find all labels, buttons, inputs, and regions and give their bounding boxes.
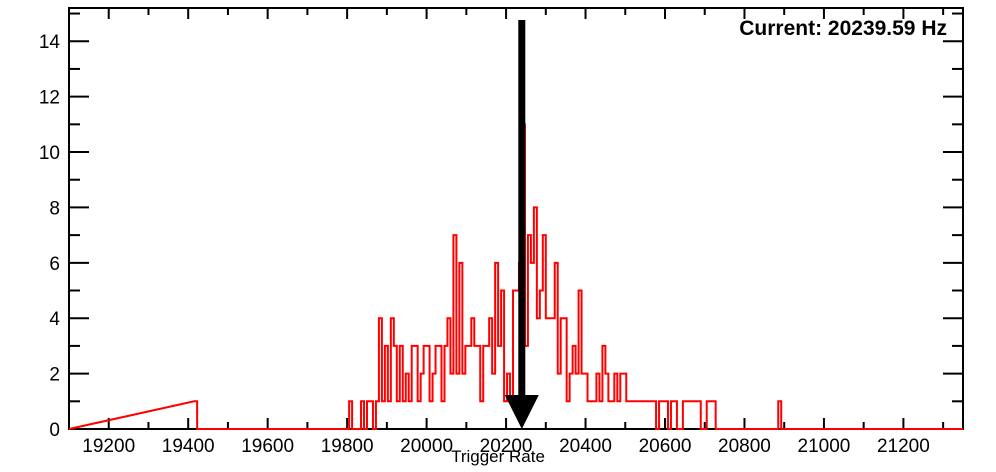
x-tick-label: 20600 <box>639 436 692 457</box>
y-tick-label: 6 <box>49 254 60 275</box>
y-axis-ticks <box>69 14 963 429</box>
x-tick-label: 21000 <box>798 436 851 457</box>
x-tick-label: 19800 <box>321 436 374 457</box>
current-rate-label: Current: 20239.59 Hz <box>739 17 947 40</box>
x-tick-label: 20400 <box>559 436 612 457</box>
frame-rect <box>69 8 963 429</box>
histogram-outline <box>69 124 963 429</box>
x-tick-label: 19200 <box>82 436 135 457</box>
x-axis-ticks <box>69 8 943 429</box>
x-axis-title: Trigger Rate <box>451 447 545 466</box>
x-tick-label: 19600 <box>241 436 294 457</box>
y-tick-label: 0 <box>49 420 60 441</box>
x-tick-label: 20800 <box>718 436 771 457</box>
y-tick-label: 10 <box>39 143 60 164</box>
plot-frame <box>69 8 963 429</box>
x-tick-label: 20000 <box>400 436 453 457</box>
y-tick-label: 2 <box>49 365 60 386</box>
y-tick-label: 14 <box>39 32 61 53</box>
trigger-rate-histogram: 1920019400196001980020000202002040020600… <box>0 0 996 472</box>
x-tick-label: 21200 <box>877 436 930 457</box>
histogram-canvas: 1920019400196001980020000202002040020600… <box>0 0 996 472</box>
marker-arrowhead <box>505 395 539 429</box>
y-tick-label: 8 <box>49 198 60 219</box>
y-axis-tick-labels: 02468101214 <box>39 32 61 441</box>
y-tick-label: 4 <box>49 309 60 330</box>
y-tick-label: 12 <box>39 88 60 109</box>
x-tick-label: 19400 <box>162 436 215 457</box>
